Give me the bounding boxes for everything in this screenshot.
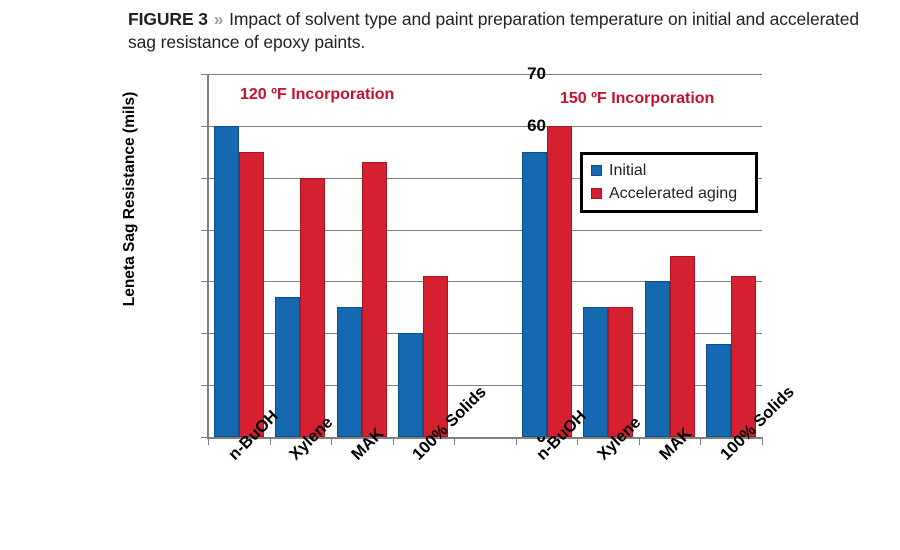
- x-axis-tick-mark: [516, 437, 517, 445]
- y-axis-tick-mark: [201, 333, 208, 334]
- bar-initial: [645, 281, 670, 437]
- bar-initial: [398, 333, 423, 437]
- legend-item-accelerated-aging: Accelerated aging: [591, 182, 747, 205]
- bar-accelerated-aging: [670, 256, 695, 438]
- y-axis-tick-label: 70: [486, 64, 546, 84]
- annotation-120f: 120 ºF Incorporation: [240, 86, 394, 104]
- gridline: [208, 126, 762, 127]
- bar-accelerated-aging: [547, 126, 572, 437]
- figure-number: FIGURE 3: [128, 9, 208, 29]
- plot-area: 010203040506070: [208, 74, 762, 437]
- x-axis-tick-mark: [331, 437, 332, 445]
- x-axis-tick-mark: [393, 437, 394, 445]
- chevron-icon: »: [213, 9, 225, 29]
- x-axis-tick-mark: [762, 437, 763, 445]
- y-axis-tick-mark: [201, 178, 208, 179]
- y-axis-tick-mark: [201, 281, 208, 282]
- x-axis-tick-mark: [454, 437, 455, 445]
- legend-swatch-accelerated-aging-icon: [591, 188, 602, 199]
- y-axis-tick-mark: [201, 385, 208, 386]
- bar-chart: Leneta Sag Resistance (mils) 01020304050…: [0, 60, 900, 550]
- bar-initial: [706, 344, 731, 437]
- bar-initial: [337, 307, 362, 437]
- bar-initial: [214, 126, 239, 437]
- x-axis-tick-mark: [639, 437, 640, 445]
- bar-accelerated-aging: [731, 276, 756, 437]
- bar-accelerated-aging: [423, 276, 448, 437]
- x-axis-tick-mark: [700, 437, 701, 445]
- legend-swatch-initial-icon: [591, 165, 602, 176]
- bar-accelerated-aging: [239, 152, 264, 437]
- chart-legend: Initial Accelerated aging: [580, 152, 758, 213]
- y-axis-line: [207, 74, 209, 438]
- y-axis-tick-mark: [201, 230, 208, 231]
- bar-accelerated-aging: [362, 162, 387, 437]
- y-axis-tick-label: 60: [486, 116, 546, 136]
- gridline: [208, 74, 762, 75]
- y-axis-tick-mark: [201, 74, 208, 75]
- legend-item-initial: Initial: [591, 159, 747, 182]
- y-axis-tick-mark: [201, 126, 208, 127]
- x-axis-tick-mark: [577, 437, 578, 445]
- x-axis-tick-mark: [208, 437, 209, 445]
- figure-caption-text: Impact of solvent type and paint prepara…: [128, 9, 859, 52]
- bar-accelerated-aging: [300, 178, 325, 437]
- figure-caption: FIGURE 3 » Impact of solvent type and pa…: [128, 8, 888, 54]
- x-axis-tick-mark: [270, 437, 271, 445]
- y-axis-tick-mark: [201, 437, 208, 438]
- y-axis-title: Leneta Sag Resistance (mils): [121, 49, 139, 349]
- gridline: [208, 230, 762, 231]
- annotation-150f: 150 ºF Incorporation: [560, 90, 714, 108]
- legend-label-accelerated-aging: Accelerated aging: [609, 185, 737, 203]
- bar-initial: [522, 152, 547, 437]
- legend-label-initial: Initial: [609, 162, 646, 180]
